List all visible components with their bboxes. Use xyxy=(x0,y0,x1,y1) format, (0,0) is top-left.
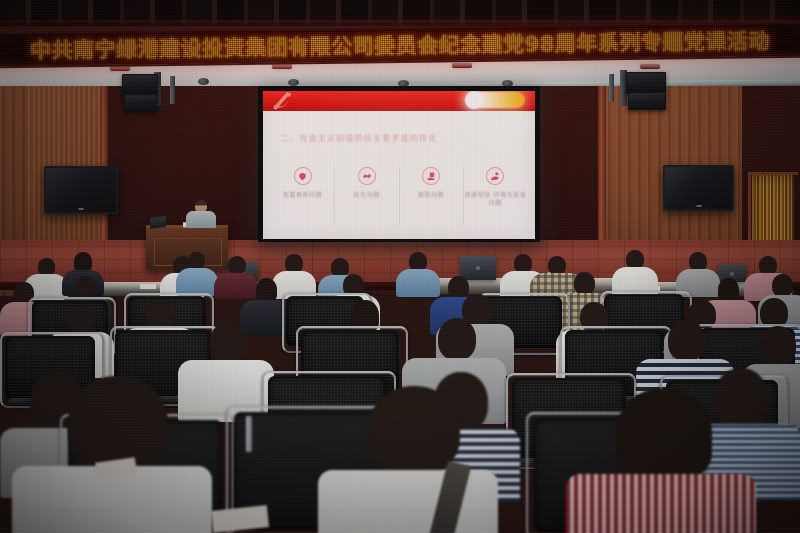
slide-card-label: 贫富差距问题 xyxy=(271,192,334,200)
attendee-head xyxy=(574,272,595,295)
attendee-torso xyxy=(318,470,498,533)
conference-hall-photo: 中共南宁绿港建设投资集团有限公司委员会纪念建党98周年系列专题党课活动 xyxy=(0,0,800,533)
attendee xyxy=(176,252,218,296)
slide-card: 民生问题 xyxy=(335,167,399,225)
line-array-speaker-right xyxy=(608,70,668,116)
papers xyxy=(140,284,156,289)
speaker-box xyxy=(628,92,666,110)
ceiling-speaker-icon xyxy=(198,78,209,85)
podium-laptop xyxy=(150,216,166,229)
slide-card-label: 资源短缺 环境与安全问题 xyxy=(464,192,527,208)
slide-card: 贫富差距问题 xyxy=(271,167,335,225)
wall-mounted-tv-left xyxy=(44,166,118,214)
attendee-head xyxy=(714,368,768,428)
attendee-torso xyxy=(566,474,756,533)
attendee-head xyxy=(68,376,168,472)
slide-card-label: 腐败问题 xyxy=(400,192,463,200)
attendee-torso xyxy=(176,268,218,296)
hammer-and-sickle-emblem xyxy=(269,91,295,113)
tv-screen-sheen xyxy=(46,168,116,212)
attendee-head xyxy=(718,278,739,302)
ceiling-speaker-icon xyxy=(288,79,299,86)
shield-icon xyxy=(294,167,312,185)
projection-screen: 二、社会主义初级阶段主要矛盾的转化 贫富差距问题 民生问题 腐败问题 xyxy=(263,91,535,239)
speaker-mount xyxy=(609,74,614,102)
growth-icon xyxy=(486,167,504,185)
attendee-foreground xyxy=(12,430,212,533)
attendee-head xyxy=(74,252,92,272)
attendee-head xyxy=(68,306,94,334)
projector-glare xyxy=(467,92,525,108)
chair-arm-post xyxy=(246,416,252,452)
slide-card: 资源短缺 环境与安全问题 xyxy=(464,167,527,225)
speaker-box xyxy=(124,94,158,112)
attendee-head xyxy=(438,318,476,360)
slide-card-label: 民生问题 xyxy=(335,192,398,200)
attendee-head xyxy=(210,322,246,362)
slide-card: 腐败问题 xyxy=(400,167,464,225)
handshake-icon xyxy=(358,167,376,185)
ceiling-structure xyxy=(0,0,800,26)
slide-card-list: 贫富差距问题 民生问题 腐败问题 资源短缺 环境与安全问题 xyxy=(271,167,527,225)
attendee-foreground xyxy=(566,440,756,533)
wall-mounted-tv-right xyxy=(663,165,734,211)
attendee-head xyxy=(75,276,96,299)
lecturer-at-podium xyxy=(186,200,216,228)
line-array-speaker-left xyxy=(122,72,178,116)
attendee xyxy=(612,250,658,296)
document-icon xyxy=(422,167,440,185)
speaker-box xyxy=(626,72,666,94)
attendee-foreground xyxy=(318,436,498,533)
hair-bun xyxy=(628,430,680,478)
slide-header-bar xyxy=(263,91,535,111)
speaker-mount xyxy=(170,76,175,104)
speaker-box xyxy=(122,74,158,96)
attendee-head xyxy=(772,274,793,297)
attendee-head xyxy=(256,278,277,302)
attendee-head xyxy=(760,326,796,366)
tv-screen-sheen xyxy=(665,167,732,209)
attendee-head xyxy=(668,320,705,361)
attendee-head xyxy=(368,386,460,476)
slide-title: 二、社会主义初级阶段主要矛盾的转化 xyxy=(281,133,519,144)
lecturer-body xyxy=(186,211,216,228)
